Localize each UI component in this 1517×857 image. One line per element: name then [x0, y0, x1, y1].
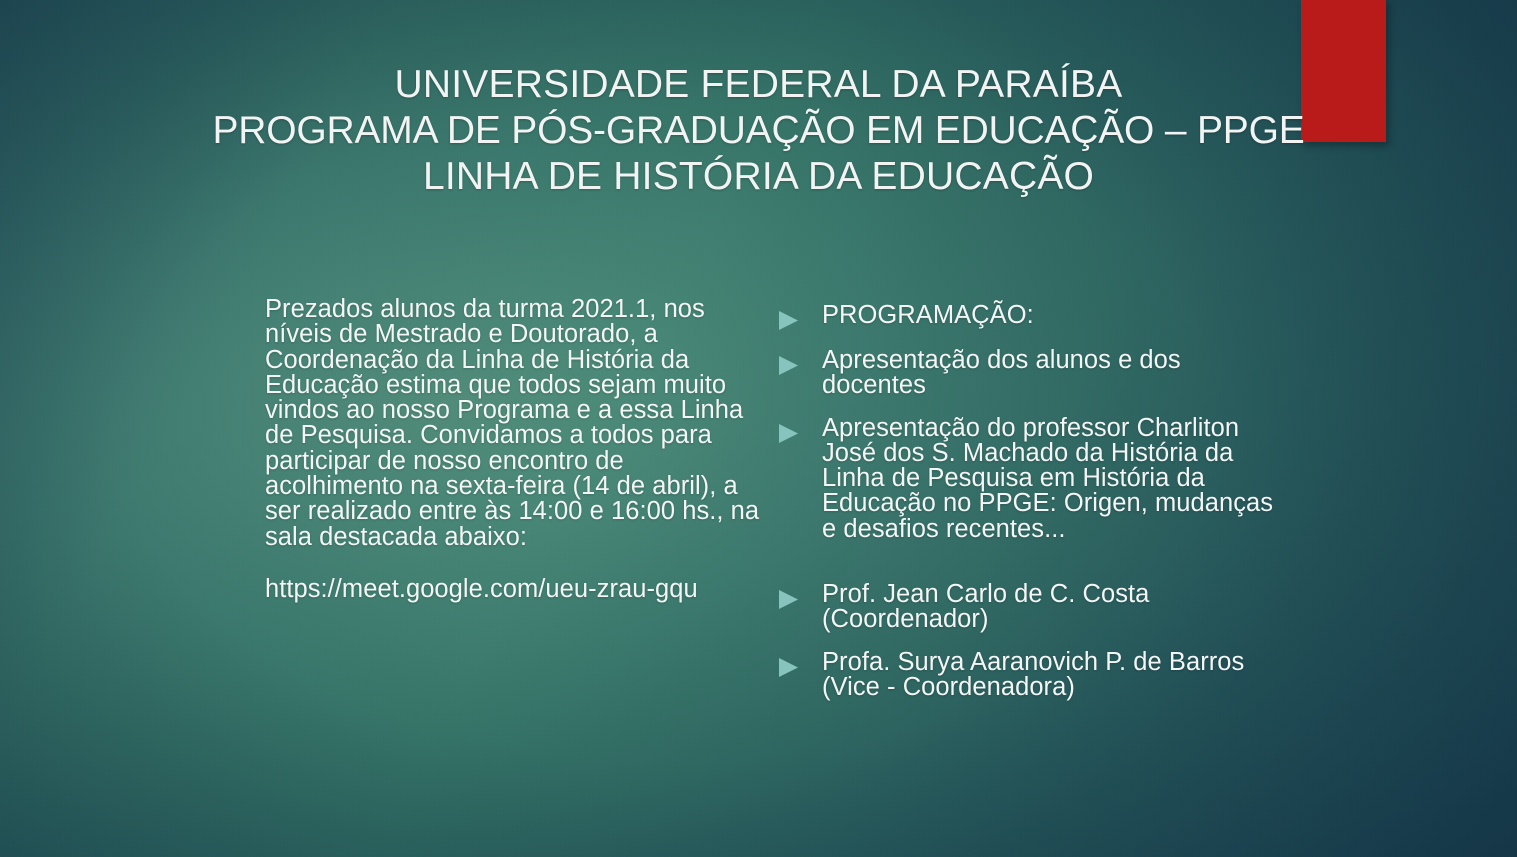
slide-title-line-1: UNIVERSIDADE FEDERAL DA PARAÍBA — [0, 62, 1517, 108]
slide-title: UNIVERSIDADE FEDERAL DA PARAÍBA PROGRAMA… — [0, 62, 1517, 200]
list-item: Apresentação do professor Charliton José… — [778, 416, 1288, 542]
slide-title-line-2: PROGRAMA DE PÓS-GRADUAÇÃO EM EDUCAÇÃO – … — [0, 108, 1517, 154]
triangle-bullet-icon — [778, 303, 822, 331]
list-item: Profa. Surya Aaranovich P. de Barros (Vi… — [778, 650, 1288, 701]
list-item: Prof. Jean Carlo de C. Costa (Coordenado… — [778, 582, 1288, 633]
triangle-bullet-icon — [778, 416, 822, 444]
programme-bullet-list: PROGRAMAÇÃO: Apresentação dos alunos e d… — [778, 303, 1288, 700]
triangle-bullet-icon — [778, 650, 822, 678]
list-item-label: PROGRAMAÇÃO: — [822, 303, 1288, 328]
paragraph-spacer — [265, 550, 765, 577]
list-item-label: Apresentação dos alunos e dos docentes — [822, 348, 1288, 399]
meeting-link[interactable]: https://meet.google.com/ueu-zrau-gqu — [265, 577, 765, 602]
triangle-bullet-icon — [778, 582, 822, 610]
list-item-label: Prof. Jean Carlo de C. Costa (Coordenado… — [822, 582, 1288, 633]
list-item: Apresentação dos alunos e dos docentes — [778, 348, 1288, 399]
slide-title-line-3: LINHA DE HISTÓRIA DA EDUCAÇÃO — [0, 154, 1517, 200]
list-item: PROGRAMAÇÃO: — [778, 303, 1288, 331]
left-text-column: Prezados alunos da turma 2021.1, nos nív… — [265, 297, 765, 602]
list-item-label: Apresentação do professor Charliton José… — [822, 416, 1288, 542]
list-item-label: Profa. Surya Aaranovich P. de Barros (Vi… — [822, 650, 1288, 701]
invitation-paragraph: Prezados alunos da turma 2021.1, nos nív… — [265, 297, 765, 550]
triangle-bullet-icon — [778, 348, 822, 376]
presentation-slide: UNIVERSIDADE FEDERAL DA PARAÍBA PROGRAMA… — [0, 0, 1517, 857]
